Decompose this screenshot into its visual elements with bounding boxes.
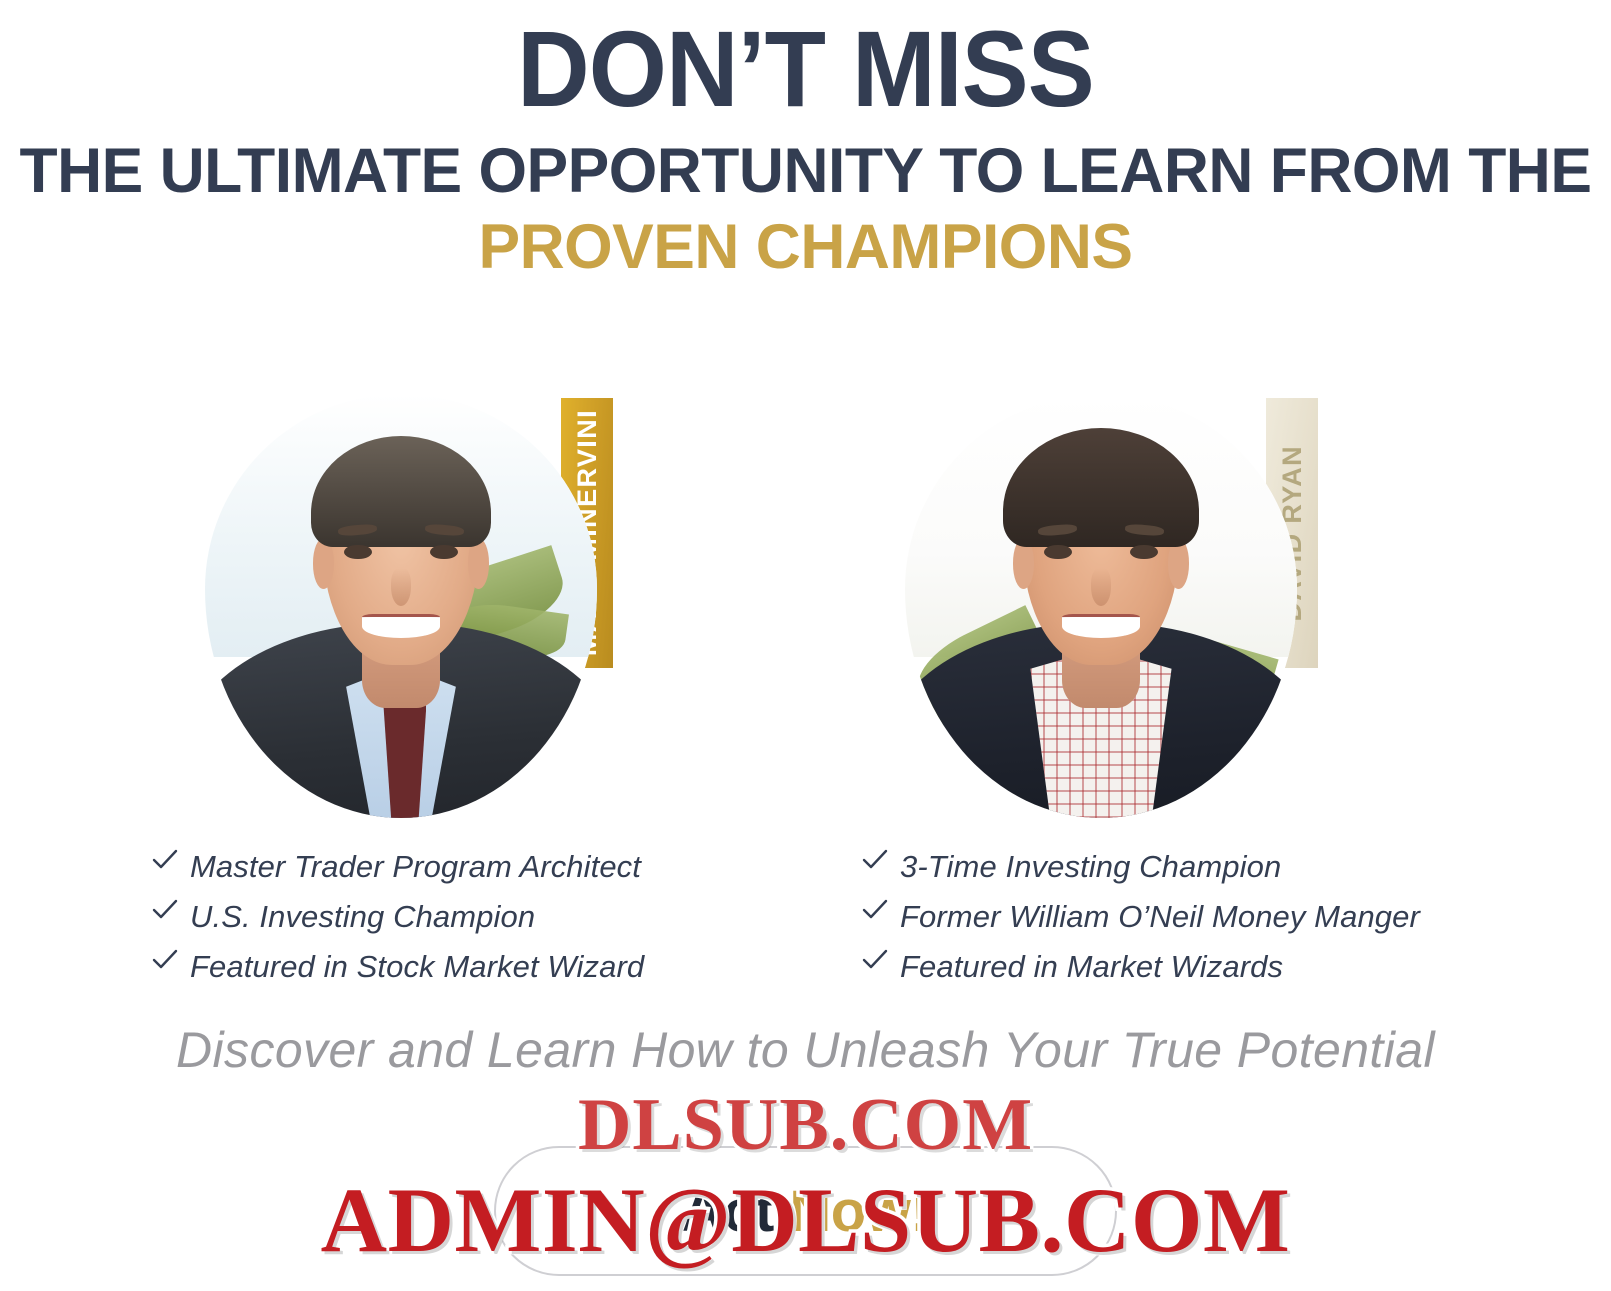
list-item: Master Trader Program Architect bbox=[150, 842, 850, 892]
credential-label: 3-Time Investing Champion bbox=[900, 842, 1281, 892]
tagline: Discover and Learn How to Unleash Your T… bbox=[0, 1018, 1611, 1082]
speaker-card-mark-minervini: MARK MINERVINI bbox=[180, 388, 650, 828]
eye-shape bbox=[1044, 545, 1071, 559]
list-item: U.S. Investing Champion bbox=[150, 892, 850, 942]
smile-shape bbox=[1062, 614, 1140, 637]
credential-label: Featured in Stock Market Wizard bbox=[190, 942, 644, 992]
act-now-button-label: Act Now! bbox=[682, 1178, 929, 1245]
speaker-card-david-ryan: DAVID RYAN bbox=[880, 388, 1350, 828]
list-item: 3-Time Investing Champion bbox=[860, 842, 1560, 892]
check-icon bbox=[150, 845, 190, 875]
check-icon bbox=[860, 945, 900, 975]
promo-poster: DON’T MISS THE ULTIMATE OPPORTUNITY TO L… bbox=[0, 0, 1611, 1291]
credentials-list-mark-minervini: Master Trader Program Architect U.S. Inv… bbox=[150, 842, 850, 992]
list-item: Featured in Stock Market Wizard bbox=[150, 942, 850, 992]
credential-label: Master Trader Program Architect bbox=[190, 842, 641, 892]
check-icon bbox=[860, 845, 900, 875]
headline-line-2: THE ULTIMATE OPPORTUNITY TO LEARN FROM T… bbox=[8, 134, 1603, 208]
check-icon bbox=[860, 895, 900, 925]
headline-line-1: DON’T MISS bbox=[56, 10, 1554, 128]
credentials-list-david-ryan: 3-Time Investing Champion Former William… bbox=[860, 842, 1560, 992]
eye-shape bbox=[1130, 545, 1157, 559]
headline-line-3: PROVEN CHAMPIONS bbox=[8, 210, 1603, 284]
nose-shape bbox=[391, 568, 411, 606]
check-icon bbox=[150, 945, 190, 975]
smile-shape bbox=[362, 614, 440, 637]
eye-shape bbox=[430, 545, 457, 559]
portrait-photo-david-ryan bbox=[905, 394, 1297, 818]
act-now-button[interactable]: Act Now! bbox=[494, 1146, 1117, 1276]
speakers-row: MARK MINERVINI bbox=[0, 388, 1611, 828]
check-icon bbox=[150, 895, 190, 925]
list-item: Former William O’Neil Money Manger bbox=[860, 892, 1560, 942]
nose-shape bbox=[1091, 568, 1111, 606]
credential-label: Featured in Market Wizards bbox=[900, 942, 1283, 992]
headline-block: DON’T MISS THE ULTIMATE OPPORTUNITY TO L… bbox=[0, 10, 1611, 284]
eye-shape bbox=[344, 545, 371, 559]
list-item: Featured in Market Wizards bbox=[860, 942, 1560, 992]
portrait-photo-mark-minervini bbox=[205, 394, 597, 818]
cta-label-gold: Now! bbox=[789, 1179, 929, 1244]
credential-label: U.S. Investing Champion bbox=[190, 892, 535, 942]
cta-label-dark: Act bbox=[682, 1179, 774, 1244]
credential-label: Former William O’Neil Money Manger bbox=[900, 892, 1420, 942]
